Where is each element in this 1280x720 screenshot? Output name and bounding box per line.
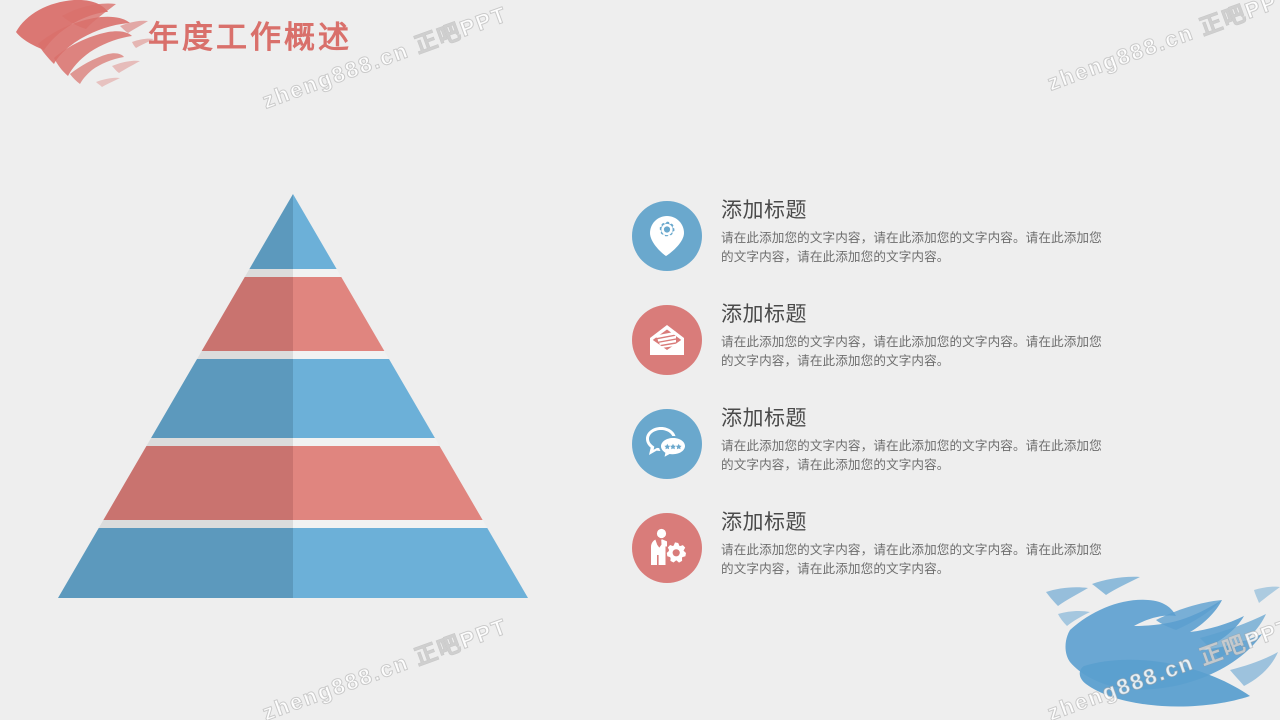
list-item[interactable]: 添加标题 请在此添加您的文字内容，请在此添加您的文字内容。请在此添加您的文字内容…	[632, 404, 1142, 508]
slide-canvas: 年度工作概述	[0, 0, 1280, 720]
location-pin-gear-icon	[632, 201, 702, 271]
pyramid-level-4[interactable]	[48, 446, 548, 520]
watermark: zheng888.cn 正吧PPT	[1042, 609, 1280, 720]
pyramid-level-5[interactable]	[48, 528, 548, 603]
list-item[interactable]: 添加标题 请在此添加您的文字内容，请在此添加您的文字内容。请在此添加您的文字内容…	[632, 508, 1142, 612]
person-gear-icon	[632, 513, 702, 583]
watermark: zheng888.cn 正吧PPT	[257, 609, 511, 720]
feature-list: 添加标题 请在此添加您的文字内容，请在此添加您的文字内容。请在此添加您的文字内容…	[632, 196, 1142, 612]
list-item-title: 添加标题	[721, 196, 1111, 226]
list-item-title: 添加标题	[721, 404, 1111, 434]
header-brush-stroke-icon	[8, 0, 168, 92]
list-item-title: 添加标题	[721, 300, 1111, 330]
pyramid-svg	[48, 186, 548, 611]
page-title: 年度工作概述	[148, 18, 352, 58]
list-item[interactable]: 添加标题 请在此添加您的文字内容，请在此添加您的文字内容。请在此添加您的文字内容…	[632, 196, 1142, 300]
list-item-description: 请在此添加您的文字内容，请在此添加您的文字内容。请在此添加您的文字内容，请在此添…	[721, 333, 1111, 371]
list-item-description: 请在此添加您的文字内容，请在此添加您的文字内容。请在此添加您的文字内容，请在此添…	[721, 437, 1111, 475]
list-item-description: 请在此添加您的文字内容，请在此添加您的文字内容。请在此添加您的文字内容，请在此添…	[721, 541, 1111, 579]
pyramid-level-3[interactable]	[48, 359, 548, 438]
list-item-body: 添加标题 请在此添加您的文字内容，请在此添加您的文字内容。请在此添加您的文字内容…	[721, 508, 1111, 579]
list-item-body: 添加标题 请在此添加您的文字内容，请在此添加您的文字内容。请在此添加您的文字内容…	[721, 404, 1111, 475]
envelope-icon	[632, 305, 702, 375]
chat-bubbles-icon	[632, 409, 702, 479]
list-item-body: 添加标题 请在此添加您的文字内容，请在此添加您的文字内容。请在此添加您的文字内容…	[721, 196, 1111, 267]
pyramid-level-2[interactable]	[48, 277, 548, 351]
pyramid-diagram	[48, 186, 548, 611]
list-item-body: 添加标题 请在此添加您的文字内容，请在此添加您的文字内容。请在此添加您的文字内容…	[721, 300, 1111, 371]
pyramid-level-1[interactable]	[48, 186, 548, 269]
list-item[interactable]: 添加标题 请在此添加您的文字内容，请在此添加您的文字内容。请在此添加您的文字内容…	[632, 300, 1142, 404]
slide-header: 年度工作概述	[0, 0, 1280, 90]
list-item-title: 添加标题	[721, 508, 1111, 538]
list-item-description: 请在此添加您的文字内容，请在此添加您的文字内容。请在此添加您的文字内容，请在此添…	[721, 229, 1111, 267]
